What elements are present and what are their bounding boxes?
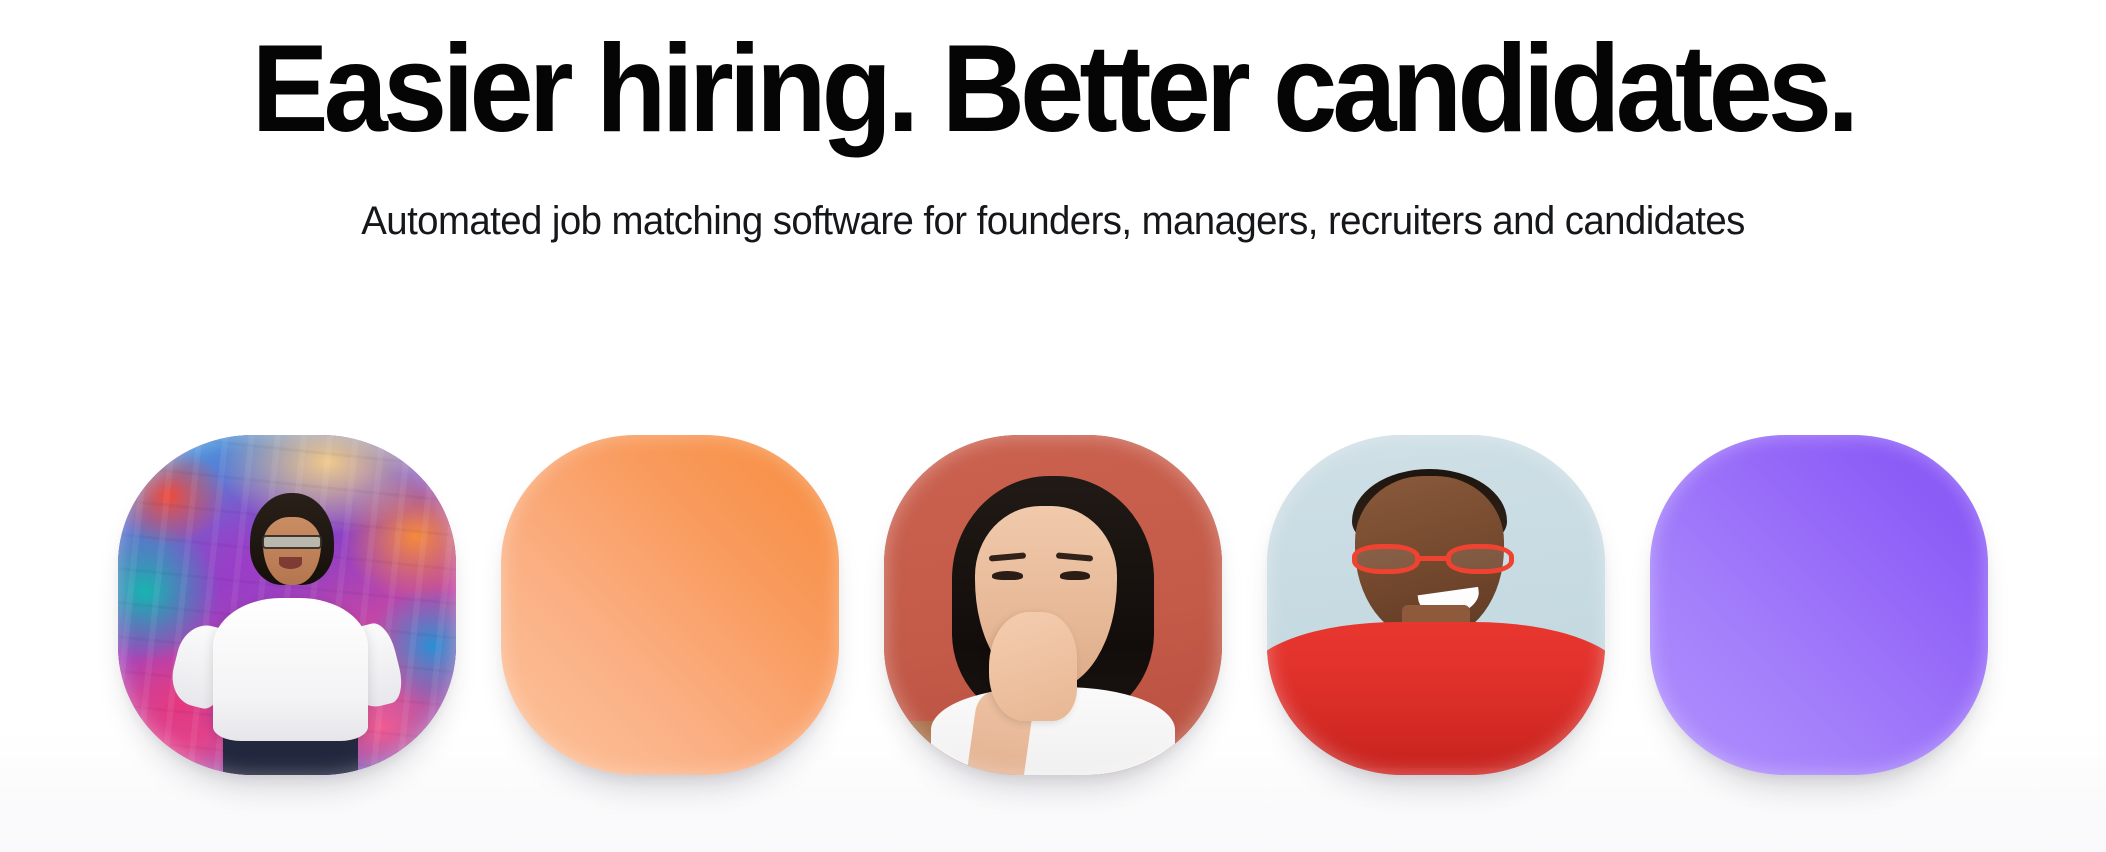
white-shirt [931, 687, 1174, 775]
glasses-icon [262, 535, 323, 549]
face [263, 517, 320, 585]
face [1355, 476, 1504, 639]
left-arm [166, 620, 238, 712]
graffiti-texture-overlay [118, 435, 456, 775]
tile-orange-gradient [501, 435, 839, 775]
tile-photo-woman-graffiti [118, 435, 456, 775]
left-eyebrow [989, 552, 1027, 561]
right-arm [335, 620, 407, 712]
avatar-tile-row [0, 435, 2106, 780]
pale-blue-backdrop [1267, 435, 1605, 775]
hero-copy: Easier hiring. Better candidates. Automa… [0, 0, 2106, 246]
tile-photo-man-blue [1267, 435, 1605, 775]
crossed-arms [1287, 693, 1584, 768]
terracotta-backdrop [884, 435, 1222, 775]
left-lens [1352, 544, 1420, 575]
hair [1352, 469, 1507, 544]
smile [1418, 587, 1482, 619]
page-title: Easier hiring. Better candidates. [74, 26, 2033, 154]
right-eye [1060, 571, 1090, 580]
tile-purple-gradient [1650, 435, 1988, 775]
neck [1402, 605, 1470, 653]
right-lens [1446, 544, 1514, 575]
left-eye [992, 571, 1022, 580]
hand [989, 612, 1077, 721]
glasses-bridge [1418, 556, 1447, 561]
white-sweater [213, 598, 368, 741]
forearm [966, 690, 1035, 775]
jeans [223, 721, 358, 775]
hair [952, 476, 1155, 721]
tile-photo-woman-terracotta [884, 435, 1222, 775]
smile [279, 557, 303, 569]
floor-strip [884, 721, 972, 775]
hero-section: Easier hiring. Better candidates. Automa… [0, 0, 2106, 852]
face [975, 506, 1117, 690]
right-eyebrow [1056, 552, 1094, 561]
red-sweatshirt [1267, 622, 1605, 775]
red-glasses-icon [1352, 544, 1514, 575]
hero-subtitle: Automated job matching software for foun… [42, 196, 2064, 246]
graffiti-wall-backdrop [118, 435, 456, 775]
hair [250, 493, 335, 585]
